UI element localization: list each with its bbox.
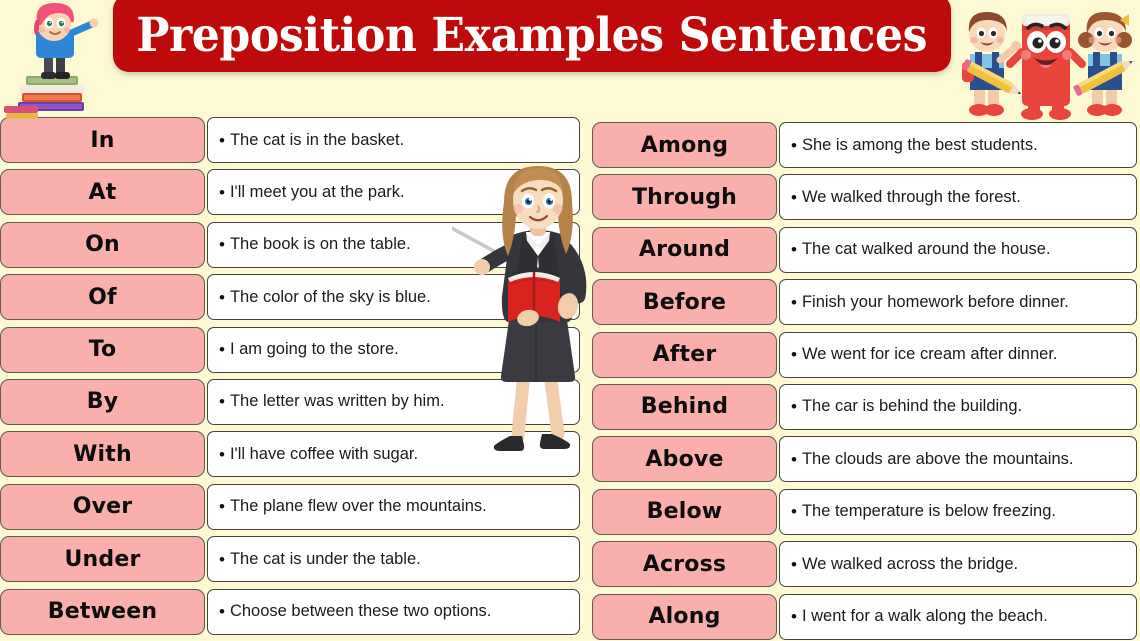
example-sentence-text: The letter was written by him. xyxy=(230,392,445,411)
example-sentence-box: •The temperature is below freezing. xyxy=(779,489,1137,535)
example-sentence-text: She is among the best students. xyxy=(802,136,1038,155)
preposition-box-in[interactable]: In xyxy=(0,117,205,163)
example-sentence-box: •The clouds are above the mountains. xyxy=(779,436,1137,482)
example-sentence-box: •Finish your homework before dinner. xyxy=(779,279,1137,325)
preposition-label: Over xyxy=(73,494,133,519)
example-sentence-box: •She is among the best students. xyxy=(779,122,1137,168)
example-sentence-text: The color of the sky is blue. xyxy=(230,288,431,307)
example-sentence-text: The cat walked around the house. xyxy=(802,240,1051,259)
preposition-row: To•I am going to the store. xyxy=(0,327,580,373)
bullet-icon: • xyxy=(791,503,797,520)
right-column: Among•She is among the best students.Thr… xyxy=(592,122,1137,641)
preposition-box-along[interactable]: Along xyxy=(592,594,777,640)
preposition-box-of[interactable]: Of xyxy=(0,274,205,320)
bullet-icon: • xyxy=(219,551,225,568)
preposition-label: Along xyxy=(648,604,720,629)
preposition-label: After xyxy=(653,342,717,367)
bullet-icon: • xyxy=(791,398,797,415)
preposition-row: On•The book is on the table. xyxy=(0,222,580,268)
preposition-label: Behind xyxy=(641,394,729,419)
preposition-label: Of xyxy=(88,285,117,310)
bullet-icon: • xyxy=(791,189,797,206)
bullet-icon: • xyxy=(219,236,225,253)
preposition-label: Below xyxy=(647,499,723,524)
preposition-label: On xyxy=(85,232,120,257)
preposition-label: Through xyxy=(632,185,737,210)
bullet-icon: • xyxy=(219,393,225,410)
preposition-box-on[interactable]: On xyxy=(0,222,205,268)
preposition-label: With xyxy=(73,442,132,467)
preposition-box-among[interactable]: Among xyxy=(592,122,777,168)
example-sentence-text: I went for a walk along the beach. xyxy=(802,607,1048,626)
preposition-row: Below•The temperature is below freezing. xyxy=(592,489,1137,535)
preposition-row: Between•Choose between these two options… xyxy=(0,589,580,635)
kids-with-book-mascot-illustration xyxy=(952,0,1140,122)
example-sentence-box: •I am going to the store. xyxy=(207,327,580,373)
bullet-icon: • xyxy=(219,289,225,306)
example-sentence-box: •The book is on the table. xyxy=(207,222,580,268)
preposition-row: With•I'll have coffee with sugar. xyxy=(0,431,580,477)
preposition-box-across[interactable]: Across xyxy=(592,541,777,587)
example-sentence-box: •We walked through the forest. xyxy=(779,174,1137,220)
preposition-row: In•The cat is in the basket. xyxy=(0,117,580,163)
boy-on-books-illustration xyxy=(4,2,116,120)
preposition-label: Around xyxy=(639,237,730,262)
preposition-row: After•We went for ice cream after dinner… xyxy=(592,332,1137,378)
preposition-box-before[interactable]: Before xyxy=(592,279,777,325)
example-sentence-text: The cat is under the table. xyxy=(230,550,421,569)
preposition-label: To xyxy=(89,337,117,362)
example-sentence-text: We went for ice cream after dinner. xyxy=(802,345,1058,364)
example-sentence-text: I'll meet you at the park. xyxy=(230,183,405,202)
left-column: In•The cat is in the basket.At•I'll meet… xyxy=(0,117,580,641)
example-sentence-box: •I'll meet you at the park. xyxy=(207,169,580,215)
example-sentence-box: •The cat walked around the house. xyxy=(779,227,1137,273)
bullet-icon: • xyxy=(219,446,225,463)
preposition-box-with[interactable]: With xyxy=(0,431,205,477)
example-sentence-text: The plane flew over the mountains. xyxy=(230,497,487,516)
bullet-icon: • xyxy=(791,294,797,311)
example-sentence-box: •Choose between these two options. xyxy=(207,589,580,635)
example-sentence-text: The temperature is below freezing. xyxy=(802,502,1056,521)
bullet-icon: • xyxy=(791,556,797,573)
example-sentence-box: •The car is behind the building. xyxy=(779,384,1137,430)
preposition-box-to[interactable]: To xyxy=(0,327,205,373)
preposition-label: Above xyxy=(645,447,723,472)
bullet-icon: • xyxy=(219,132,225,149)
preposition-box-under[interactable]: Under xyxy=(0,536,205,582)
infographic-page: Preposition Examples Sentences xyxy=(0,0,1140,641)
preposition-row: Above•The clouds are above the mountains… xyxy=(592,436,1137,482)
bullet-icon: • xyxy=(791,346,797,363)
example-sentence-box: •The cat is in the basket. xyxy=(207,117,580,163)
example-sentence-box: •I went for a walk along the beach. xyxy=(779,594,1137,640)
example-sentence-box: •We walked across the bridge. xyxy=(779,541,1137,587)
preposition-box-through[interactable]: Through xyxy=(592,174,777,220)
preposition-label: Before xyxy=(643,290,726,315)
bullet-icon: • xyxy=(791,608,797,625)
bullet-icon: • xyxy=(791,137,797,154)
example-sentence-box: •The letter was written by him. xyxy=(207,379,580,425)
preposition-row: Along•I went for a walk along the beach. xyxy=(592,594,1137,640)
example-sentence-box: •The cat is under the table. xyxy=(207,536,580,582)
example-sentence-text: We walked across the bridge. xyxy=(802,555,1018,574)
example-sentence-box: •The plane flew over the mountains. xyxy=(207,484,580,530)
bullet-icon: • xyxy=(219,603,225,620)
preposition-label: Between xyxy=(48,599,157,624)
preposition-row: Through•We walked through the forest. xyxy=(592,174,1137,220)
preposition-label: Under xyxy=(64,547,140,572)
preposition-box-around[interactable]: Around xyxy=(592,227,777,273)
preposition-row: At•I'll meet you at the park. xyxy=(0,169,580,215)
preposition-box-by[interactable]: By xyxy=(0,379,205,425)
preposition-label: Across xyxy=(643,552,726,577)
example-sentence-text: I am going to the store. xyxy=(230,340,399,359)
preposition-row: Across•We walked across the bridge. xyxy=(592,541,1137,587)
example-sentence-text: The car is behind the building. xyxy=(802,397,1022,416)
preposition-row: Among•She is among the best students. xyxy=(592,122,1137,168)
preposition-box-over[interactable]: Over xyxy=(0,484,205,530)
preposition-row: Over•The plane flew over the mountains. xyxy=(0,484,580,530)
preposition-label: By xyxy=(87,389,119,414)
example-sentence-text: The book is on the table. xyxy=(230,235,411,254)
preposition-box-between[interactable]: Between xyxy=(0,589,205,635)
bullet-icon: • xyxy=(219,341,225,358)
example-sentence-text: The clouds are above the mountains. xyxy=(802,450,1074,469)
preposition-label: In xyxy=(90,128,114,153)
preposition-row: By•The letter was written by him. xyxy=(0,379,580,425)
bullet-icon: • xyxy=(791,451,797,468)
example-sentence-box: •The color of the sky is blue. xyxy=(207,274,580,320)
example-sentence-text: Finish your homework before dinner. xyxy=(802,293,1069,312)
page-title: Preposition Examples Sentences xyxy=(137,4,928,63)
example-sentence-box: •I'll have coffee with sugar. xyxy=(207,431,580,477)
bullet-icon: • xyxy=(791,241,797,258)
example-sentence-text: We walked through the forest. xyxy=(802,188,1021,207)
example-sentence-text: The cat is in the basket. xyxy=(230,131,404,150)
preposition-box-below[interactable]: Below xyxy=(592,489,777,535)
preposition-box-above[interactable]: Above xyxy=(592,436,777,482)
preposition-row: Behind•The car is behind the building. xyxy=(592,384,1137,430)
preposition-row: Around•The cat walked around the house. xyxy=(592,227,1137,273)
example-sentence-box: •We went for ice cream after dinner. xyxy=(779,332,1137,378)
preposition-row: Under•The cat is under the table. xyxy=(0,536,580,582)
preposition-row: Before•Finish your homework before dinne… xyxy=(592,279,1137,325)
preposition-label: At xyxy=(89,180,117,205)
preposition-box-after[interactable]: After xyxy=(592,332,777,378)
title-banner: Preposition Examples Sentences xyxy=(113,0,951,72)
preposition-label: Among xyxy=(641,133,728,158)
preposition-box-at[interactable]: At xyxy=(0,169,205,215)
example-sentence-text: Choose between these two options. xyxy=(230,602,491,621)
preposition-row: Of•The color of the sky is blue. xyxy=(0,274,580,320)
preposition-box-behind[interactable]: Behind xyxy=(592,384,777,430)
example-sentence-text: I'll have coffee with sugar. xyxy=(230,445,418,464)
bullet-icon: • xyxy=(219,184,225,201)
bullet-icon: • xyxy=(219,498,225,515)
